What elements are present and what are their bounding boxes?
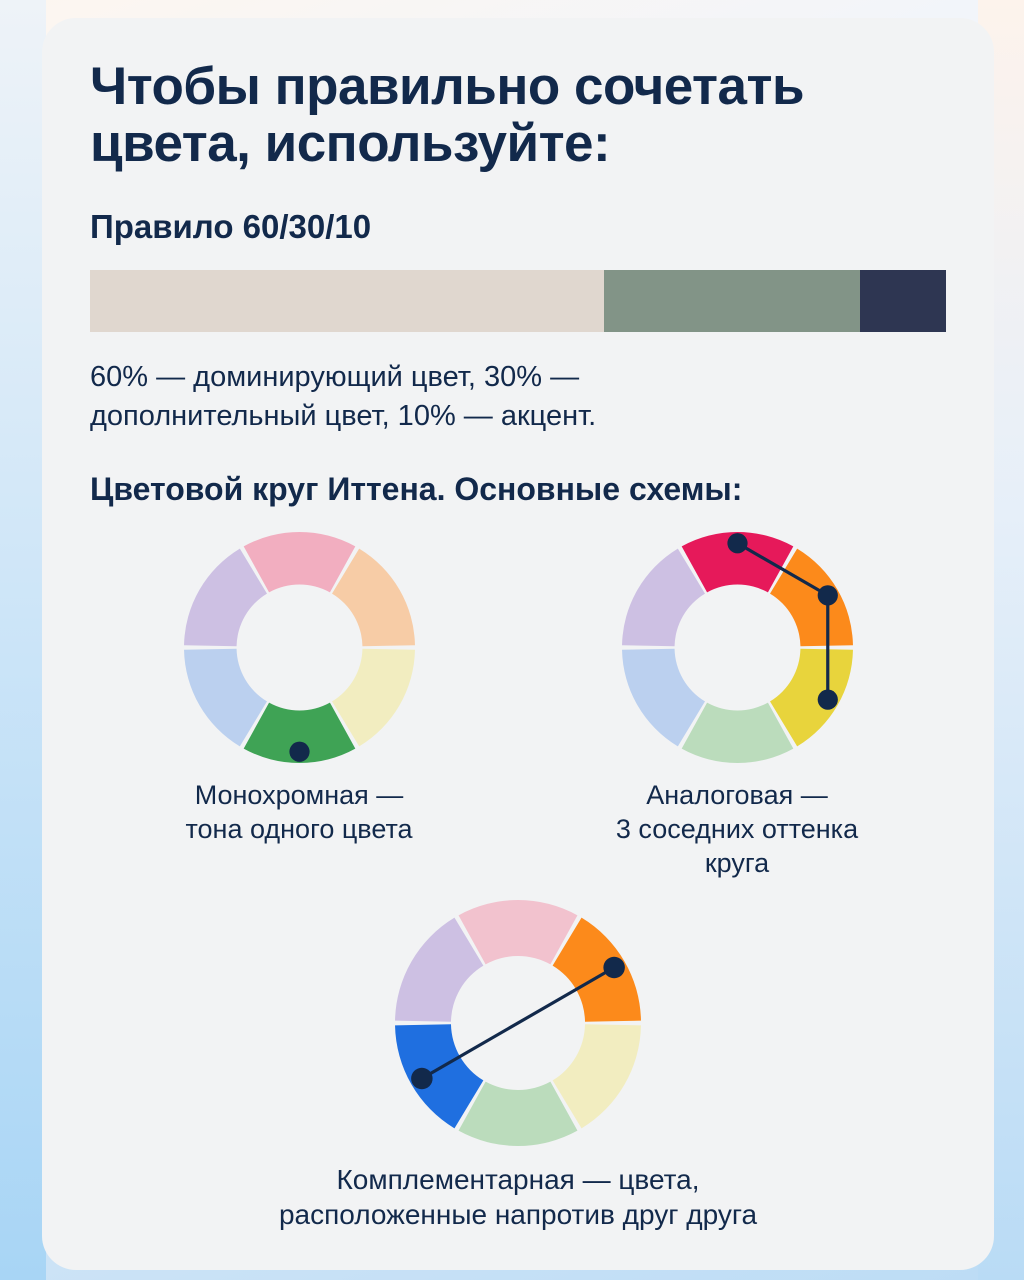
- content-card: Чтобы правильно сочетать цвета, использу…: [42, 18, 994, 1270]
- page-title-line-2: цвета, используйте:: [90, 114, 610, 173]
- wheel-block-complementary: Комплементарная — цвета, расположенные н…: [313, 898, 723, 1232]
- color-wheel-monochrome: [182, 530, 417, 765]
- wheel-block-monochrome: Монохромная — тона одного цвета: [94, 530, 504, 880]
- page-background-left: [0, 0, 46, 1280]
- color-wheel-complementary: [393, 898, 643, 1148]
- wheel-marker-dot[interactable]: [603, 957, 625, 979]
- wheel-marker-dot[interactable]: [289, 742, 309, 762]
- rule-subtitle: Правило 60/30/10: [90, 208, 946, 246]
- wheel-svg-complementary: [393, 898, 643, 1148]
- ratio-description: 60% — доминирующий цвет, 30% — дополните…: [90, 358, 790, 435]
- wheel-svg-analogous: [620, 530, 855, 765]
- wheels-heading: Цветовой круг Иттена. Основные схемы:: [90, 471, 946, 508]
- wheel-caption-monochrome: Монохромная — тона одного цвета: [185, 779, 412, 847]
- wheel-caption-analogous: Аналоговая — 3 соседних оттенка круга: [616, 779, 858, 880]
- wheel-caption-complementary: Комплементарная — цвета, расположенные н…: [168, 1162, 868, 1232]
- wheels-row-top: Монохромная — тона одного цвета Аналогов…: [90, 530, 946, 880]
- wheel-marker-dot[interactable]: [411, 1068, 433, 1090]
- page-title-line-1: Чтобы правильно сочетать: [90, 57, 804, 116]
- wheel-marker-dot[interactable]: [817, 690, 837, 710]
- color-wheel-analogous: [620, 530, 855, 765]
- ratio-segment-30: [604, 270, 861, 332]
- page-title: Чтобы правильно сочетать цвета, использу…: [90, 58, 946, 172]
- wheel-marker-dot[interactable]: [817, 585, 837, 605]
- wheel-block-analogous: Аналоговая — 3 соседних оттенка круга: [532, 530, 942, 880]
- ratio-segment-10: [860, 270, 946, 332]
- ratio-segment-60: [90, 270, 604, 332]
- wheel-svg-monochrome: [182, 530, 417, 765]
- wheel-marker-dot[interactable]: [727, 533, 747, 553]
- ratio-bar: [90, 270, 946, 332]
